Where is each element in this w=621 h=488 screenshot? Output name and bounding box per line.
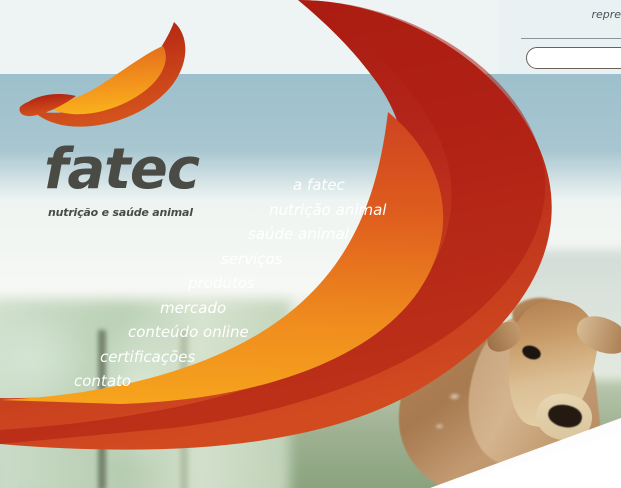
- nav-item-contato[interactable]: contato: [74, 374, 420, 389]
- photo-fence-rail: [0, 398, 260, 444]
- nav-item-saúde-animal[interactable]: saúde animal: [248, 227, 420, 242]
- nav-item-conteúdo-online[interactable]: conteúdo online: [128, 325, 420, 340]
- representantes-link[interactable]: repre: [591, 8, 621, 21]
- leaf-swoosh-icon: [18, 10, 218, 140]
- homepage-hero: repre fatec nutrição e saúde animal a fa…: [0, 0, 621, 488]
- nav-item-a-fatec[interactable]: a fatec: [293, 178, 420, 193]
- nav-item-produtos[interactable]: produtos: [188, 276, 420, 291]
- nav-item-mercado[interactable]: mercado: [160, 301, 420, 316]
- utility-panel: repre: [498, 0, 621, 74]
- search-input[interactable]: [526, 47, 621, 69]
- nav-item-nutrição-animal[interactable]: nutrição animal: [269, 203, 420, 218]
- nav-item-serviços[interactable]: serviços: [221, 252, 420, 267]
- panel-divider: [521, 38, 621, 39]
- nav-item-certificações[interactable]: certificações: [100, 350, 420, 365]
- main-navigation: a fatecnutrição animalsaúde animalserviç…: [0, 178, 420, 399]
